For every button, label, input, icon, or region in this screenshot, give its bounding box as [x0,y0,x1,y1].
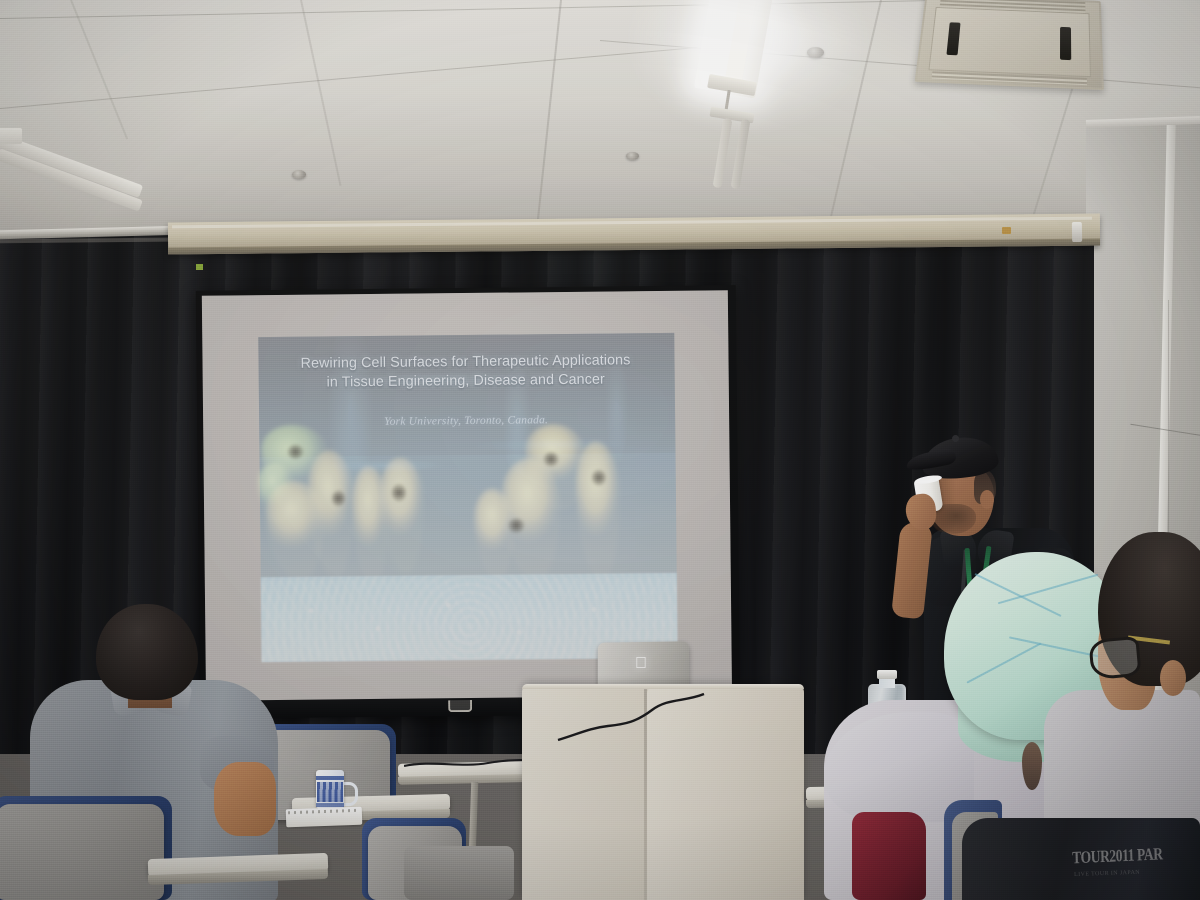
mug-pattern-band [316,803,344,807]
lamp-end-cap [0,128,22,144]
lecture-hall-photo: Rewiring Cell Surfaces for Therapeutic A… [0,0,1200,900]
bottle-cap [877,670,897,679]
eyeglasses-lens [1088,636,1141,680]
apple-logo-icon:  [634,656,648,672]
seated-student-left-head [96,604,198,700]
hijab-pattern-line [998,574,1099,605]
presenter-ear [980,490,994,509]
red-bag [852,812,926,900]
podium-top-edge [522,684,804,689]
mug-pattern [317,782,343,802]
ceiling-sprinkler-head [292,170,306,179]
fluorescent-light-on [660,0,860,201]
screen-pull-hook[interactable] [448,700,472,712]
valance-label [1002,227,1011,234]
ceiling-panel-seam [300,0,341,186]
blue-white-ceramic-mug [316,770,352,810]
seated-student-left-arm [214,762,276,836]
ceiling-air-conditioning-vent [915,0,1104,90]
chair-seat[interactable] [404,846,514,900]
display-cable [556,692,706,752]
chair-back-shell [0,804,164,900]
vent-slot [1060,27,1071,60]
flat-cap-button [952,435,959,442]
fluorescent-light-off [0,128,190,218]
mug-pattern-band [316,776,344,780]
ceiling-panel-seam [70,0,128,139]
hijab-pattern-line [966,642,1041,683]
screen-pull-knob[interactable] [1072,222,1082,242]
desk-leg [469,782,479,854]
seated-attendee-glasses-ear [1160,660,1186,696]
slide-title: Rewiring Cell Surfaces for Therapeutic A… [240,351,690,394]
ceiling-panel-seam [536,0,562,231]
hijab-pattern-line [974,573,1061,617]
exit-indicator-light [196,264,203,270]
